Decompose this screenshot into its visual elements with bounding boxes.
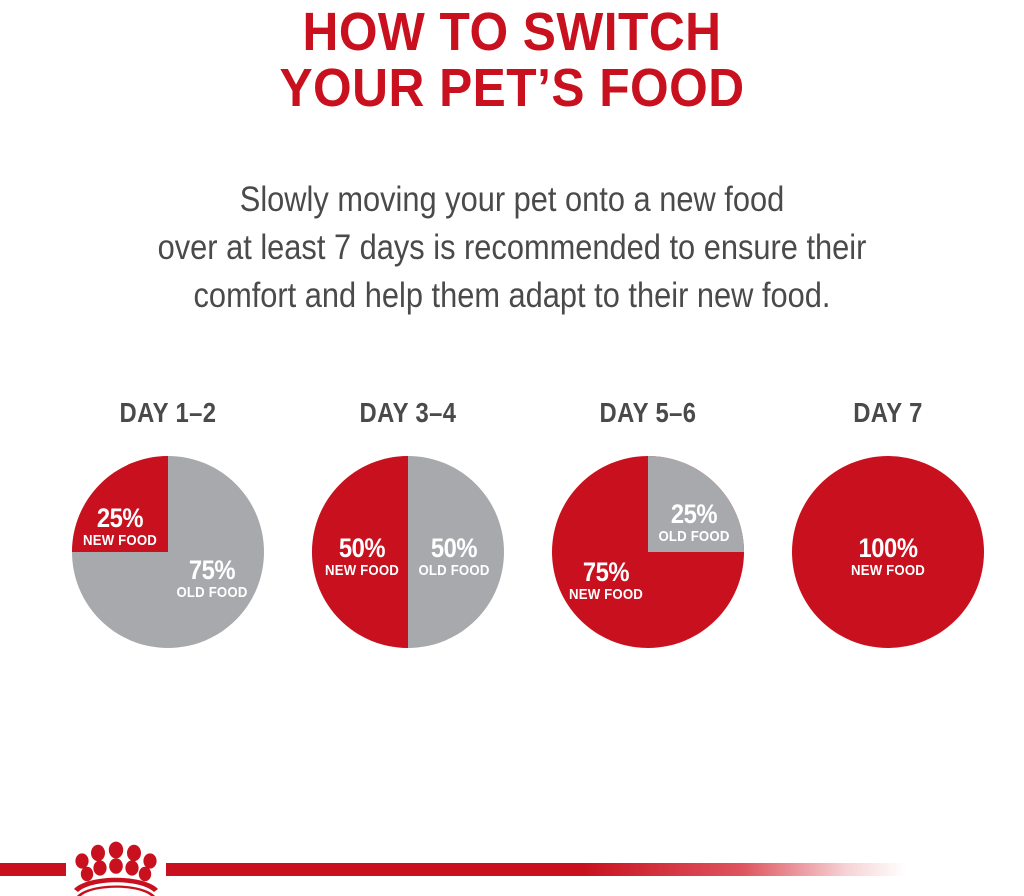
footer	[0, 840, 1024, 896]
pie-chart-2: 50% NEW FOOD 50% OLD FOOD	[312, 456, 504, 648]
intro-line-1: Slowly moving your pet onto a new food	[61, 176, 962, 224]
pie-3-old-food-slice	[648, 456, 744, 552]
pie-group-day-1-2: DAY 1–2 25% NEW FOOD 75% OLD FOOD	[48, 398, 288, 668]
pie-chart-4-svg	[792, 456, 984, 648]
pie-2-new-food-slice	[312, 456, 408, 648]
royal-canin-crown-logo	[60, 840, 172, 896]
pie-group-day-5-6: DAY 5–6 25% OLD FOOD 75% NEW FOOD	[528, 398, 768, 668]
day-label-2: DAY 3–4	[306, 398, 510, 428]
page-title-line-1: HOW TO SWITCH	[41, 4, 983, 60]
intro-line-2: over at least 7 days is recommended to e…	[61, 224, 962, 272]
page-title-line-2: YOUR PET’S FOOD	[41, 60, 983, 116]
pie-group-day-3-4: DAY 3–4 50% NEW FOOD 50% OLD FOOD	[288, 398, 528, 668]
day-label-1: DAY 1–2	[66, 398, 270, 428]
pie-chart-3: 25% OLD FOOD 75% NEW FOOD	[552, 456, 744, 648]
page-title: HOW TO SWITCH YOUR PET’S FOOD	[41, 0, 983, 116]
pie-4-new-food-slice	[792, 456, 984, 648]
day-label-4: DAY 7	[786, 398, 990, 428]
footer-band-right	[166, 863, 906, 876]
intro-paragraph: Slowly moving your pet onto a new food o…	[61, 176, 962, 320]
pie-group-day-7: DAY 7 100% NEW FOOD	[768, 398, 1008, 668]
pie-chart-1: 25% NEW FOOD 75% OLD FOOD	[72, 456, 264, 648]
crown-icon	[60, 840, 172, 896]
pie-chart-1-svg	[72, 456, 264, 648]
intro-line-3: comfort and help them adapt to their new…	[61, 272, 962, 320]
pie-1-new-food-slice	[72, 456, 168, 552]
footer-band-left	[0, 863, 66, 876]
day-label-3: DAY 5–6	[546, 398, 750, 428]
pie-chart-2-svg	[312, 456, 504, 648]
pie-chart-4: 100% NEW FOOD	[792, 456, 984, 648]
pie-chart-row: DAY 1–2 25% NEW FOOD 75% OLD FOOD DAY 3–…	[0, 398, 1024, 668]
pie-chart-3-svg	[552, 456, 744, 648]
